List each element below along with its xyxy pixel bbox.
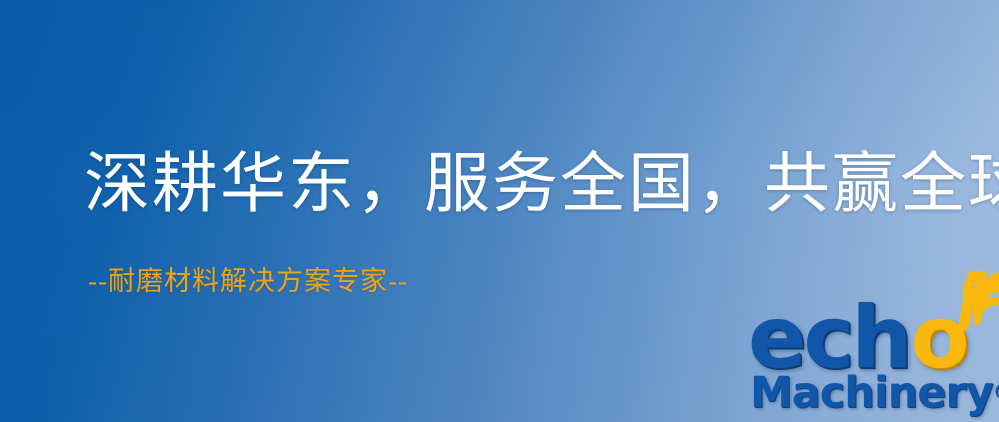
hero-banner: 深耕华东，服务全国，共赢全球 --耐磨材料解决方案专家-- ech o — [0, 0, 999, 422]
company-logo[interactable]: ech o — [744, 296, 999, 422]
signal-waves-icon — [957, 271, 999, 335]
logo-text-machinery: Machinery® — [750, 372, 999, 415]
logo-wordmark: ech o — [748, 296, 968, 374]
banner-subtitle: --耐磨材料解决方案专家-- — [88, 268, 408, 295]
registered-trademark-icon: ® — [993, 380, 999, 404]
logo-text-ech: ech — [748, 303, 910, 374]
logo-machinery-word: Machinery — [750, 368, 993, 418]
banner-headline: 深耕华东，服务全国，共赢全球 — [84, 152, 999, 218]
logo-o-group: o — [911, 303, 968, 374]
